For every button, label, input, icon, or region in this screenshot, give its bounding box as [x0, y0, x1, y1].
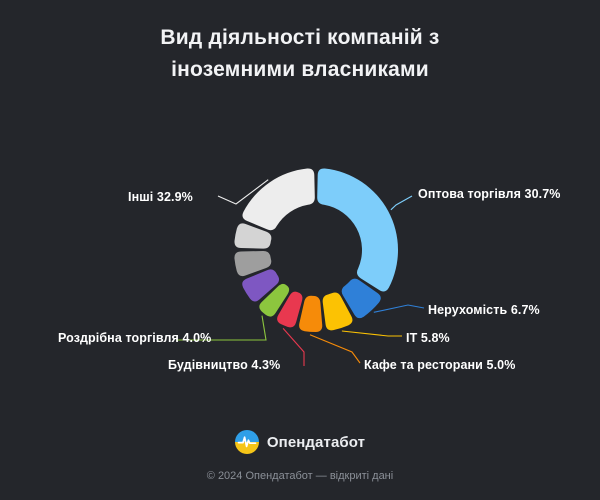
opendatabot-logo-icon — [235, 430, 259, 454]
leader-line-cafes — [310, 335, 360, 363]
donut-slices — [234, 168, 398, 332]
slice-label-it: IT 5.8% — [406, 331, 450, 345]
pulse-wave-icon — [235, 430, 259, 454]
slice-label-realestate: Нерухомість 6.7% — [428, 303, 540, 317]
donut-slice-wholesale[interactable] — [317, 168, 398, 291]
copyright-text: © 2024 Опендатабот — відкриті дані — [0, 470, 600, 482]
slice-label-wholesale: Оптова торгівля 30.7% — [418, 187, 561, 201]
chart-canvas: Вид діяльності компаній з іноземними вла… — [0, 0, 600, 500]
donut-svg — [0, 0, 600, 500]
slice-label-cafes: Кафе та ресторани 5.0% — [364, 358, 515, 372]
leader-line-it — [342, 331, 402, 336]
leader-line-construction — [283, 328, 304, 366]
slice-label-retail: Роздрібна торгівля 4.0% — [58, 331, 211, 345]
donut-chart — [0, 0, 600, 500]
brand-name: Опендатабот — [267, 434, 365, 451]
slice-label-construction: Будівництво 4.3% — [168, 358, 280, 372]
leader-line-realestate — [374, 305, 424, 312]
brand-footer: Опендатабот — [0, 430, 600, 454]
slice-label-other: Інші 32.9% — [128, 190, 193, 204]
leader-line-wholesale — [391, 196, 412, 210]
donut-slice-cafes[interactable] — [299, 296, 322, 332]
donut-slice-other[interactable] — [242, 168, 314, 230]
